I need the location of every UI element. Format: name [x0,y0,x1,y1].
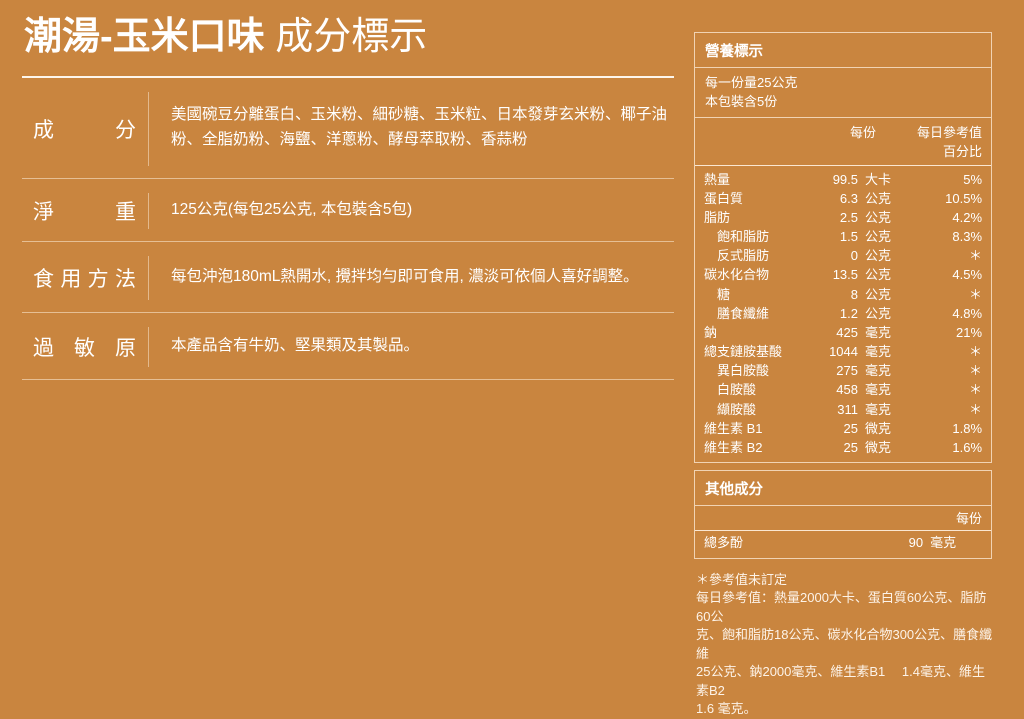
nutrient-unit: 公克 [865,246,909,265]
nutrient-daily-pct: 21% [909,323,991,342]
nutrient-unit: 公克 [865,208,909,227]
nutrition-row: 異白胺酸275毫克＊ [695,361,991,380]
row-label-net-weight: 淨重 [22,179,148,241]
nutrient-name: 異白胺酸 [695,361,817,380]
table-row-ingredients: 成分 美國碗豆分離蛋白、玉米粉、細砂糖、玉米粒、日本發芽玄米粉、椰子油粉、全脂奶… [22,78,674,179]
nutrition-row: 纈胺酸311毫克＊ [695,400,991,419]
nutrient-value: 6.3 [817,189,865,208]
nutrition-row: 蛋白質6.3公克10.5% [695,189,991,208]
row-value-net-weight: 125公克(每包25公克, 本包裝含5包) [149,179,674,241]
nutrient-value: 13.5 [817,265,865,284]
footnote: ＊參考值未訂定 每日參考值：熱量2000大卡、蛋白質60公克、脂肪60公 克、飽… [694,571,996,719]
nutrient-unit: 毫克 [865,400,909,419]
nutrition-row: 反式脂肪0公克＊ [695,246,991,265]
nutrient-value: 425 [817,323,865,342]
nutrition-row: 總支鏈胺基酸1044毫克＊ [695,342,991,361]
nutrition-facts-panel: 營養標示 每一份量25公克 本包裝含5份 每份 每日參考值百分比 熱量99.5大… [694,32,992,463]
footnote-line-4: 25公克、鈉2000毫克、維生素B1 1.4毫克、維生素B2 [696,663,996,700]
nutrient-unit: 毫克 [865,323,909,342]
nutrient-daily-pct: 8.3% [909,227,991,246]
nutrient-unit: 公克 [865,265,909,284]
other-name: 總多酚 [695,531,864,558]
serving-info: 每一份量25公克 本包裝含5份 [695,68,991,118]
nutrient-value: 311 [817,400,865,419]
nutrient-unit: 毫克 [865,380,909,399]
nutrient-value: 275 [817,361,865,380]
nutrition-row: 白胺酸458毫克＊ [695,380,991,399]
nutrient-name: 熱量 [695,165,817,189]
nutrient-daily-pct: 5% [909,165,991,189]
nutrition-row: 熱量99.5大卡5% [695,165,991,189]
nutrient-value: 1044 [817,342,865,361]
nutrient-value: 1.5 [817,227,865,246]
footnote-line-5: 1.6 毫克。 [696,700,996,718]
nutrient-value: 8 [817,285,865,304]
nutrient-daily-pct: 10.5% [909,189,991,208]
header-daily-pct: 每日參考值百分比 [909,118,991,166]
other-unit: 毫克 [930,531,991,558]
nutrient-value: 0 [817,246,865,265]
nutrient-daily-pct: ＊ [909,246,991,265]
other-ingredients-table: 每份 總多酚90毫克 [695,506,991,558]
nutrient-name: 糖 [695,285,817,304]
nutrient-name: 膳食纖維 [695,304,817,323]
nutrition-row: 膳食纖維1.2公克4.8% [695,304,991,323]
nutrient-daily-pct: 1.8% [909,419,991,438]
nutrient-unit: 公克 [865,189,909,208]
product-info-panel: 潮湯-玉米口味 成分標示 成分 美國碗豆分離蛋白、玉米粉、細砂糖、玉米粒、日本發… [22,14,674,380]
nutrition-table: 每份 每日參考值百分比 熱量99.5大卡5%蛋白質6.3公克10.5%脂肪2.5… [695,118,991,462]
nutrient-value: 458 [817,380,865,399]
nutrient-daily-pct: ＊ [909,400,991,419]
nutrient-unit: 公克 [865,227,909,246]
nutrient-unit: 毫克 [865,342,909,361]
table-row-usage: 食用方法 每包沖泡180mL熱開水, 攪拌均勻即可食用, 濃淡可依個人喜好調整。 [22,242,674,313]
row-label-usage: 食用方法 [22,242,148,312]
table-header-row: 每份 每日參考值百分比 [695,118,991,166]
nutrient-daily-pct: ＊ [909,285,991,304]
nutrient-name: 維生素 B2 [695,438,817,462]
nutrient-value: 25 [817,438,865,462]
nutrient-value: 25 [817,419,865,438]
nutrient-unit: 公克 [865,285,909,304]
nutrient-daily-pct: 1.6% [909,438,991,462]
nutrient-daily-pct: ＊ [909,380,991,399]
nutrient-name: 白胺酸 [695,380,817,399]
nutrient-name: 鈉 [695,323,817,342]
nutrition-row: 碳水化合物13.5公克4.5% [695,265,991,284]
nutrition-row: 鈉425毫克21% [695,323,991,342]
page-title: 潮湯-玉米口味 成分標示 [22,14,674,62]
nutrient-daily-pct: 4.5% [909,265,991,284]
header-blank [695,118,817,166]
nutrient-name: 碳水化合物 [695,265,817,284]
other-value: 90 [864,531,930,558]
page-title-product: 潮湯-玉米口味 [24,16,265,58]
table-header-row: 每份 [695,506,991,531]
nutrient-value: 2.5 [817,208,865,227]
nutrition-row: 維生素 B225微克1.6% [695,438,991,462]
nutrient-unit: 微克 [865,438,909,462]
nutrient-name: 纈胺酸 [695,400,817,419]
footnote-line-2: 每日參考值：熱量2000大卡、蛋白質60公克、脂肪60公 [696,589,996,626]
row-label-net-weight-text: 淨重 [33,196,137,226]
serving-size: 每一份量25公克 [705,74,981,93]
nutrient-daily-pct: ＊ [909,342,991,361]
nutrition-table-body: 熱量99.5大卡5%蛋白質6.3公克10.5%脂肪2.5公克4.2%飽和脂肪1.… [695,165,991,462]
nutrient-unit: 微克 [865,419,909,438]
nutrient-name: 維生素 B1 [695,419,817,438]
row-value-usage: 每包沖泡180mL熱開水, 攪拌均勻即可食用, 濃淡可依個人喜好調整。 [149,242,674,312]
other-table-head: 每份 [695,506,991,531]
row-label-ingredients: 成分 [22,78,148,178]
table-row-allergen: 過敏原 本產品含有牛奶、堅果類及其製品。 [22,313,674,380]
nutrient-value: 99.5 [817,165,865,189]
page-title-suffix: 成分標示 [265,16,428,58]
nutrient-daily-pct: ＊ [909,361,991,380]
footnote-line-1: ＊參考值未訂定 [696,571,996,589]
row-label-usage-text: 食用方法 [33,263,137,293]
servings-per-pack: 本包裝含5份 [705,93,981,112]
nutrient-daily-pct: 4.8% [909,304,991,323]
nutrient-unit: 毫克 [865,361,909,380]
other-ingredient-row: 總多酚90毫克 [695,531,991,558]
nutrition-column: 營養標示 每一份量25公克 本包裝含5份 每份 每日參考值百分比 熱量99.5大… [694,32,992,719]
nutrition-row: 脂肪2.5公克4.2% [695,208,991,227]
nutrient-unit: 大卡 [865,165,909,189]
other-panel-title: 其他成分 [695,471,991,506]
nutrient-name: 總支鏈胺基酸 [695,342,817,361]
nutrient-name: 蛋白質 [695,189,817,208]
row-label-ingredients-text: 成分 [33,114,137,144]
nutrient-daily-pct: 4.2% [909,208,991,227]
nutrient-unit: 公克 [865,304,909,323]
product-info-table: 成分 美國碗豆分離蛋白、玉米粉、細砂糖、玉米粒、日本發芽玄米粉、椰子油粉、全脂奶… [22,78,674,380]
footnote-line-3: 克、飽和脂肪18公克、碳水化合物300公克、膳食纖維 [696,626,996,663]
other-ingredients-panel: 其他成分 每份 總多酚90毫克 [694,470,992,559]
nutrient-name: 飽和脂肪 [695,227,817,246]
nutrition-table-head: 每份 每日參考值百分比 [695,118,991,166]
other-table-body: 總多酚90毫克 [695,531,991,558]
table-row-net-weight: 淨重 125公克(每包25公克, 本包裝含5包) [22,179,674,242]
nutrient-name: 脂肪 [695,208,817,227]
row-label-allergen: 過敏原 [22,313,148,379]
row-value-ingredients: 美國碗豆分離蛋白、玉米粉、細砂糖、玉米粒、日本發芽玄米粉、椰子油粉、全脂奶粉、海… [149,78,674,178]
row-value-allergen: 本產品含有牛奶、堅果類及其製品。 [149,313,674,379]
nutrition-panel-title: 營養標示 [695,33,991,68]
nutrition-row: 糖8公克＊ [695,285,991,304]
nutrient-value: 1.2 [817,304,865,323]
header-per-serving: 每份 [817,118,909,166]
nutrition-row: 維生素 B125微克1.8% [695,419,991,438]
header-per-serving: 每份 [695,506,991,531]
nutrient-name: 反式脂肪 [695,246,817,265]
nutrition-row: 飽和脂肪1.5公克8.3% [695,227,991,246]
row-label-allergen-text: 過敏原 [33,332,137,362]
